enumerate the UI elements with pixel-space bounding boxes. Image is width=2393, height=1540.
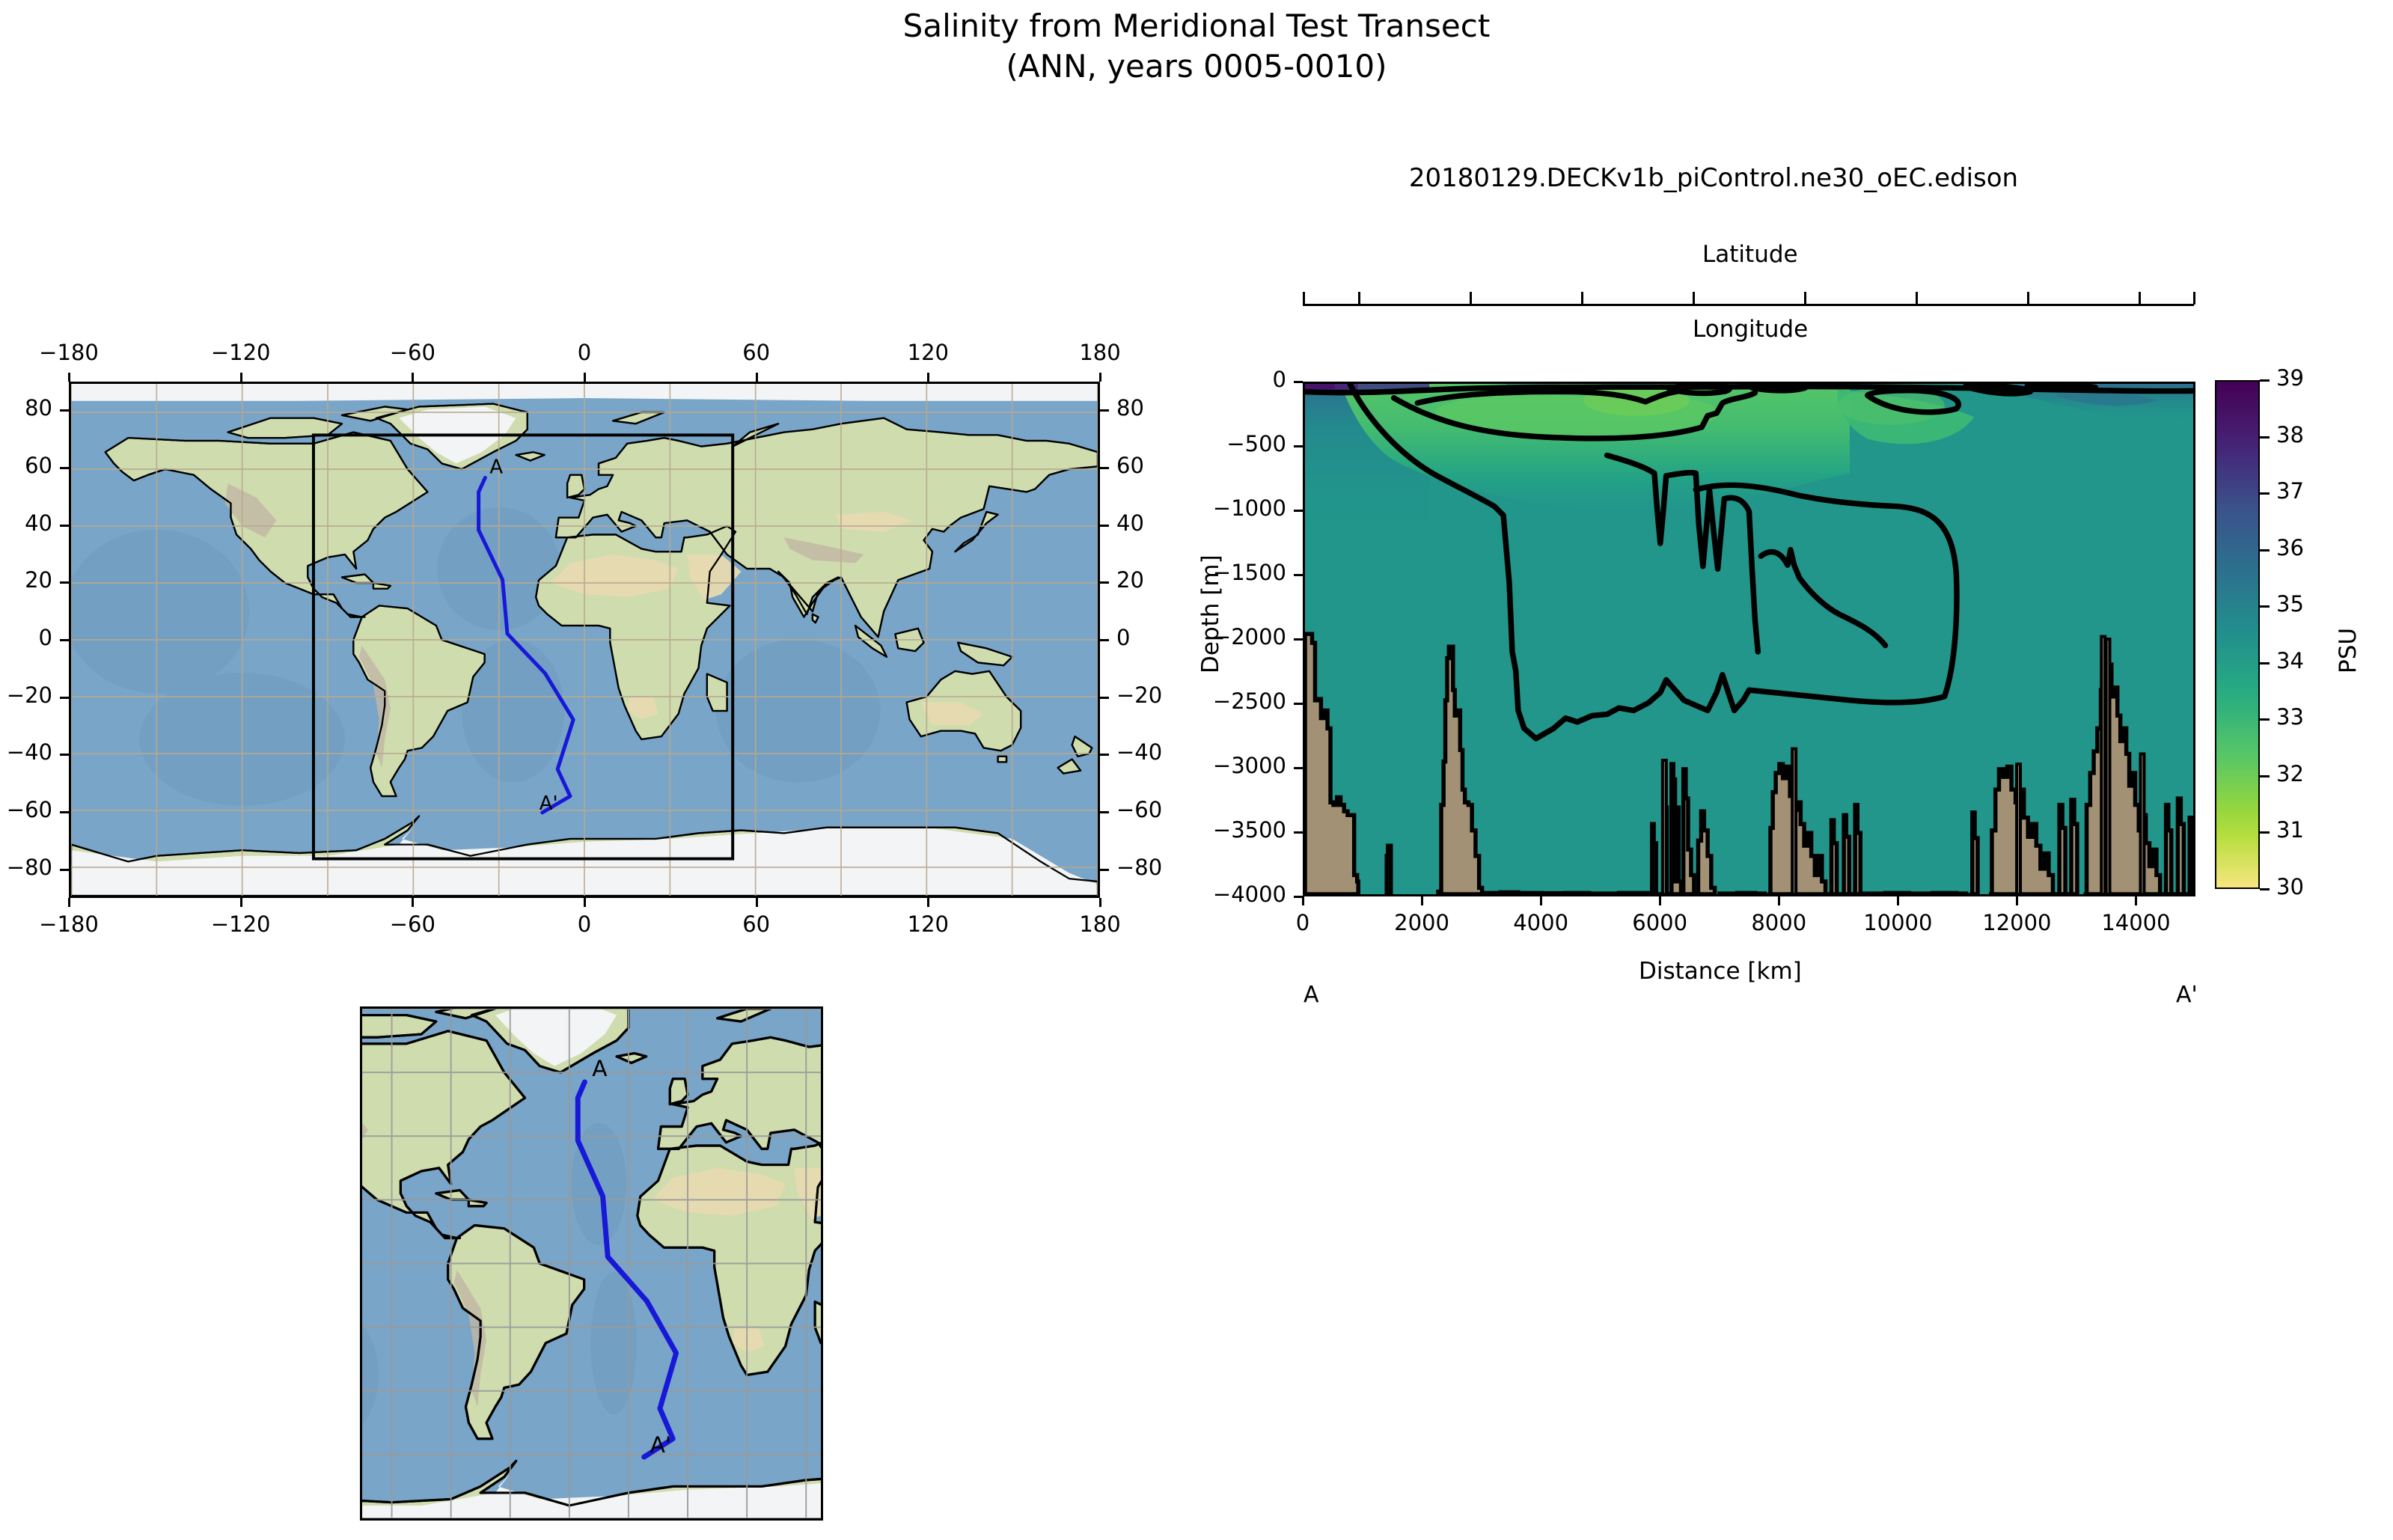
transect-endpoint-aprime-label: A' [2176,982,2198,1008]
colorbar-tick-label: 39 [2276,365,2304,391]
cs-y-tick-label: −3000 [1213,753,1286,778]
world-map-y-tick-label-left: 60 [25,453,52,478]
latitude-tick-mark [1581,292,1583,305]
longitude-tick-label: -14.75° [0,348,1196,371]
world-map-x-tick-mark [927,373,929,382]
latitude-tick-mark [1470,292,1472,305]
cs-y-tick-mark [1294,896,1303,898]
cs-y-tick-label: 0 [1273,367,1286,392]
colorbar-tick-mark [2260,662,2270,664]
cs-y-tick-mark [1294,767,1303,769]
latitude-tick-label: 56.56° [0,0,1196,23]
latitude-axis-spine [1303,304,2194,306]
svg-text:A': A' [540,792,558,815]
colorbar-tick-label: 31 [2276,817,2304,843]
latitude-tick-mark [1804,292,1806,305]
world-map-y-tick-label-right: 60 [1116,453,1144,478]
longitude-tick-label: -3.92° [0,302,1196,325]
world-map-x-tick-mark [68,373,70,382]
latitude-tick-label: -11.79° [0,93,1196,116]
inset-map-canvas: AA' [362,1009,821,1518]
latitude-tick-label: 38.64° [0,23,1196,46]
cs-x-tick-mark [1421,896,1423,905]
svg-text:A: A [592,1056,608,1082]
world-map-y-tick-mark [60,525,69,527]
world-map-y-tick-label-left: 80 [25,395,52,421]
cross-section-axes[interactable] [1303,382,2195,896]
latitude-tick-label: 21.10° [0,46,1196,70]
longitude-tick-label: -27.04° [0,255,1196,278]
world-map-y-tick-label-right: −80 [1116,855,1162,880]
world-map-y-tick-label-right: 20 [1116,567,1144,593]
colorbar[interactable] [2215,380,2260,889]
cs-y-tick-label: −2500 [1213,688,1286,714]
world-map-y-tick-mark [60,754,69,756]
cs-x-tick-mark [2135,896,2137,905]
longitude-axis-label: Longitude [1693,316,1808,343]
cs-x-tick-mark [1897,896,1899,905]
longitude-tick-label: -34.80° [0,186,1196,209]
cs-x-tick-mark [1778,896,1780,905]
latitude-tick-label: 2.08° [0,70,1196,93]
world-map-x-tick-label-bottom: −180 [39,911,99,937]
world-map-y-tick-mark [1100,869,1109,871]
colorbar-tick-label: 30 [2276,874,2304,899]
world-map-x-tick-mark [240,898,242,907]
cs-y-tick-label: −3500 [1213,817,1286,843]
world-map-y-tick-label-right: −40 [1116,739,1162,765]
cs-y-tick-mark [1294,831,1303,834]
colorbar-tick-mark [2260,888,2270,890]
colorbar-tick-mark [2260,831,2270,834]
latitude-tick-label: -45.51° [0,139,1196,162]
cs-y-tick-label: −4000 [1213,881,1286,907]
longitude-tick-label: -13.84° [0,278,1196,302]
world-map-y-tick-mark [60,697,69,699]
colorbar-gradient [2216,382,2258,887]
latitude-axis-label: Latitude [1702,241,1798,268]
world-map-x-tick-label-bottom: 0 [578,911,591,937]
cs-x-tick-label: 8000 [1751,910,1806,935]
cs-y-tick-mark [1294,703,1303,705]
cs-x-tick-mark [1540,896,1542,905]
world-map-y-tick-label-right: −60 [1116,797,1162,822]
cs-y-tick-mark [1294,445,1303,447]
world-map-x-tick-label-bottom: 60 [742,911,770,937]
world-map-x-tick-mark [584,898,586,907]
world-map-y-tick-mark [60,639,69,641]
world-map-y-tick-mark [1100,467,1109,469]
world-map-y-tick-mark [1100,697,1109,699]
world-map-y-tick-mark [60,811,69,813]
cs-y-tick-mark [1294,510,1303,512]
world-map-y-tick-mark [60,869,69,871]
world-map-y-tick-mark [1100,754,1109,756]
colorbar-tick-label: 33 [2276,704,2304,730]
world-map-axes[interactable]: AA' [69,382,1100,898]
cs-y-tick-label: −1000 [1213,495,1286,521]
world-map-x-tick-label-bottom: 120 [908,911,949,937]
world-map-y-tick-label-right: 40 [1116,510,1144,536]
world-map-y-tick-label-left: 20 [25,567,52,593]
colorbar-tick-mark [2260,436,2270,439]
y-axis-label: Depth [m] [1197,554,1224,673]
world-map-x-tick-mark [584,373,586,382]
colorbar-tick-label: 34 [2276,648,2304,673]
latitude-tick-mark [2027,292,2029,305]
colorbar-tick-mark [2260,718,2270,721]
latitude-tick-label: -60.75° [0,162,1196,186]
world-map-y-tick-mark [1100,581,1109,584]
cs-x-tick-label: 14000 [2101,910,2170,935]
world-map-x-tick-mark [412,373,414,382]
world-map-x-tick-label-bottom: −120 [211,911,271,937]
world-map-y-tick-mark [60,467,69,469]
longitude-tick-label: -9.41° [0,325,1196,348]
world-map-y-tick-label-right: −20 [1116,682,1162,708]
longitude-tick-label: -28.74° [0,232,1196,255]
latitude-tick-mark [1358,292,1360,305]
colorbar-tick-label: 36 [2276,535,2304,560]
world-map-x-tick-mark [68,898,70,907]
cs-y-tick-mark [1294,574,1303,576]
cs-x-tick-mark [2016,896,2018,905]
colorbar-tick-label: 35 [2276,591,2304,617]
world-map-y-tick-label-left: −60 [7,797,52,822]
colorbar-tick-mark [2260,379,2270,382]
colorbar-tick-mark [2260,549,2270,551]
world-map-x-tick-mark [412,898,414,907]
inset-map-axes[interactable]: AA' [360,1006,823,1521]
transect-endpoint-a-label: A [1304,982,1319,1008]
latitude-axis-cap-left [1303,292,1305,305]
cs-y-tick-label: −500 [1226,431,1286,456]
cs-x-tick-label: 10000 [1863,910,1932,935]
colorbar-tick-label: 32 [2276,761,2304,786]
colorbar-tick-mark [2260,605,2270,608]
longitude-tick-label: -37.11° [0,209,1196,232]
cs-x-tick-label: 2000 [1394,910,1449,935]
cs-x-tick-label: 0 [1296,910,1309,935]
world-map-y-tick-label-left: −40 [7,739,52,765]
cs-x-tick-mark [1659,896,1661,905]
latitude-tick-mark [2139,292,2141,305]
world-map-y-tick-label-left: 40 [25,510,52,536]
cs-x-tick-label: 4000 [1513,910,1568,935]
world-map-y-tick-mark [1100,409,1109,412]
world-map-y-tick-mark [1100,525,1109,527]
latitude-tick-mark [1693,292,1695,305]
world-map-y-tick-mark [60,581,69,584]
world-map-x-tick-label-bottom: −60 [390,911,435,937]
svg-text:A': A' [650,1432,671,1458]
world-map-y-tick-mark [1100,639,1109,641]
world-map-y-tick-label-right: 0 [1116,625,1130,650]
latitude-tick-mark [1916,292,1918,305]
world-map-y-tick-label-left: 0 [39,625,52,650]
world-map-x-tick-mark [1099,373,1101,382]
colorbar-tick-mark [2260,775,2270,777]
svg-text:A: A [489,456,503,479]
world-map-x-tick-label-bottom: 180 [1079,911,1120,937]
colorbar-tick-label: 38 [2276,422,2304,447]
world-map-x-tick-mark [927,898,929,907]
world-map-y-tick-label-left: −20 [7,682,52,708]
world-map-x-tick-mark [240,373,242,382]
world-map-x-tick-mark [756,898,758,907]
world-map-y-tick-label-right: 80 [1116,395,1144,421]
colorbar-tick-mark [2260,492,2270,495]
cross-section-canvas [1305,384,2193,894]
colorbar-tick-label: 37 [2276,478,2304,504]
cs-y-tick-mark [1294,638,1303,641]
world-map-y-tick-mark [60,409,69,412]
cs-y-tick-mark [1294,381,1303,383]
world-map-canvas: AA' [71,384,1098,896]
run-name-title: 20180129.DECKv1b_piControl.ne30_oEC.edis… [1212,163,2215,193]
world-map-x-tick-mark [756,373,758,382]
x-axis-label: Distance [km] [1639,958,1802,985]
colorbar-label: PSU [2335,628,2362,673]
world-map-y-tick-mark [1100,811,1109,813]
cs-x-tick-label: 6000 [1632,910,1687,935]
latitude-tick-label: -28.10° [0,116,1196,139]
cs-x-tick-label: 12000 [1982,910,2051,935]
world-map-x-tick-mark [1099,898,1101,907]
world-map-y-tick-label-left: −80 [7,855,52,880]
latitude-axis-cap-right [2193,292,2195,305]
